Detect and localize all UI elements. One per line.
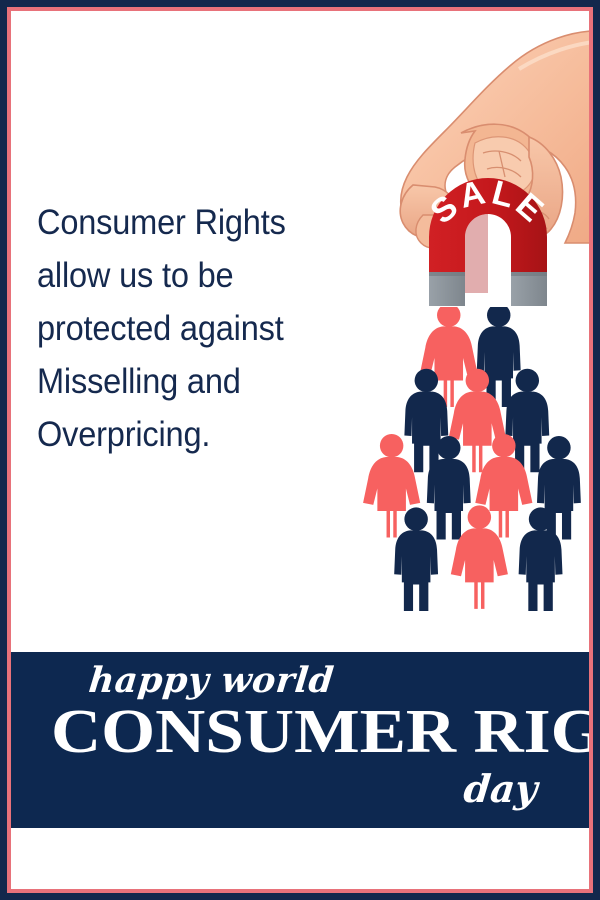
crowd-figure-female bbox=[449, 369, 506, 473]
crowd-figure-male bbox=[519, 507, 563, 611]
hand-shape bbox=[400, 31, 589, 248]
banner-headline: CONSUMER RIGHTS bbox=[51, 700, 589, 764]
poster-inner-border: Consumer Rights allow us to be protected… bbox=[7, 7, 593, 893]
bottom-banner: happy world CONSUMER RIGHTS day bbox=[11, 652, 589, 828]
banner-script-top: happy world bbox=[87, 660, 336, 701]
page-title: Consumer Rights allow us to be protected… bbox=[37, 196, 372, 461]
crowd-figure-male bbox=[394, 507, 438, 611]
crowd-of-consumers-illustration bbox=[359, 307, 589, 615]
poster-content-area: Consumer Rights allow us to be protected… bbox=[11, 11, 589, 889]
crowd-figure-male bbox=[505, 369, 549, 473]
poster-canvas: Consumer Rights allow us to be protected… bbox=[0, 0, 600, 900]
magnet-shape: SALE bbox=[423, 173, 552, 306]
banner-script-bottom: day bbox=[461, 766, 539, 811]
hand-with-sale-magnet-illustration: SALE bbox=[379, 25, 589, 307]
